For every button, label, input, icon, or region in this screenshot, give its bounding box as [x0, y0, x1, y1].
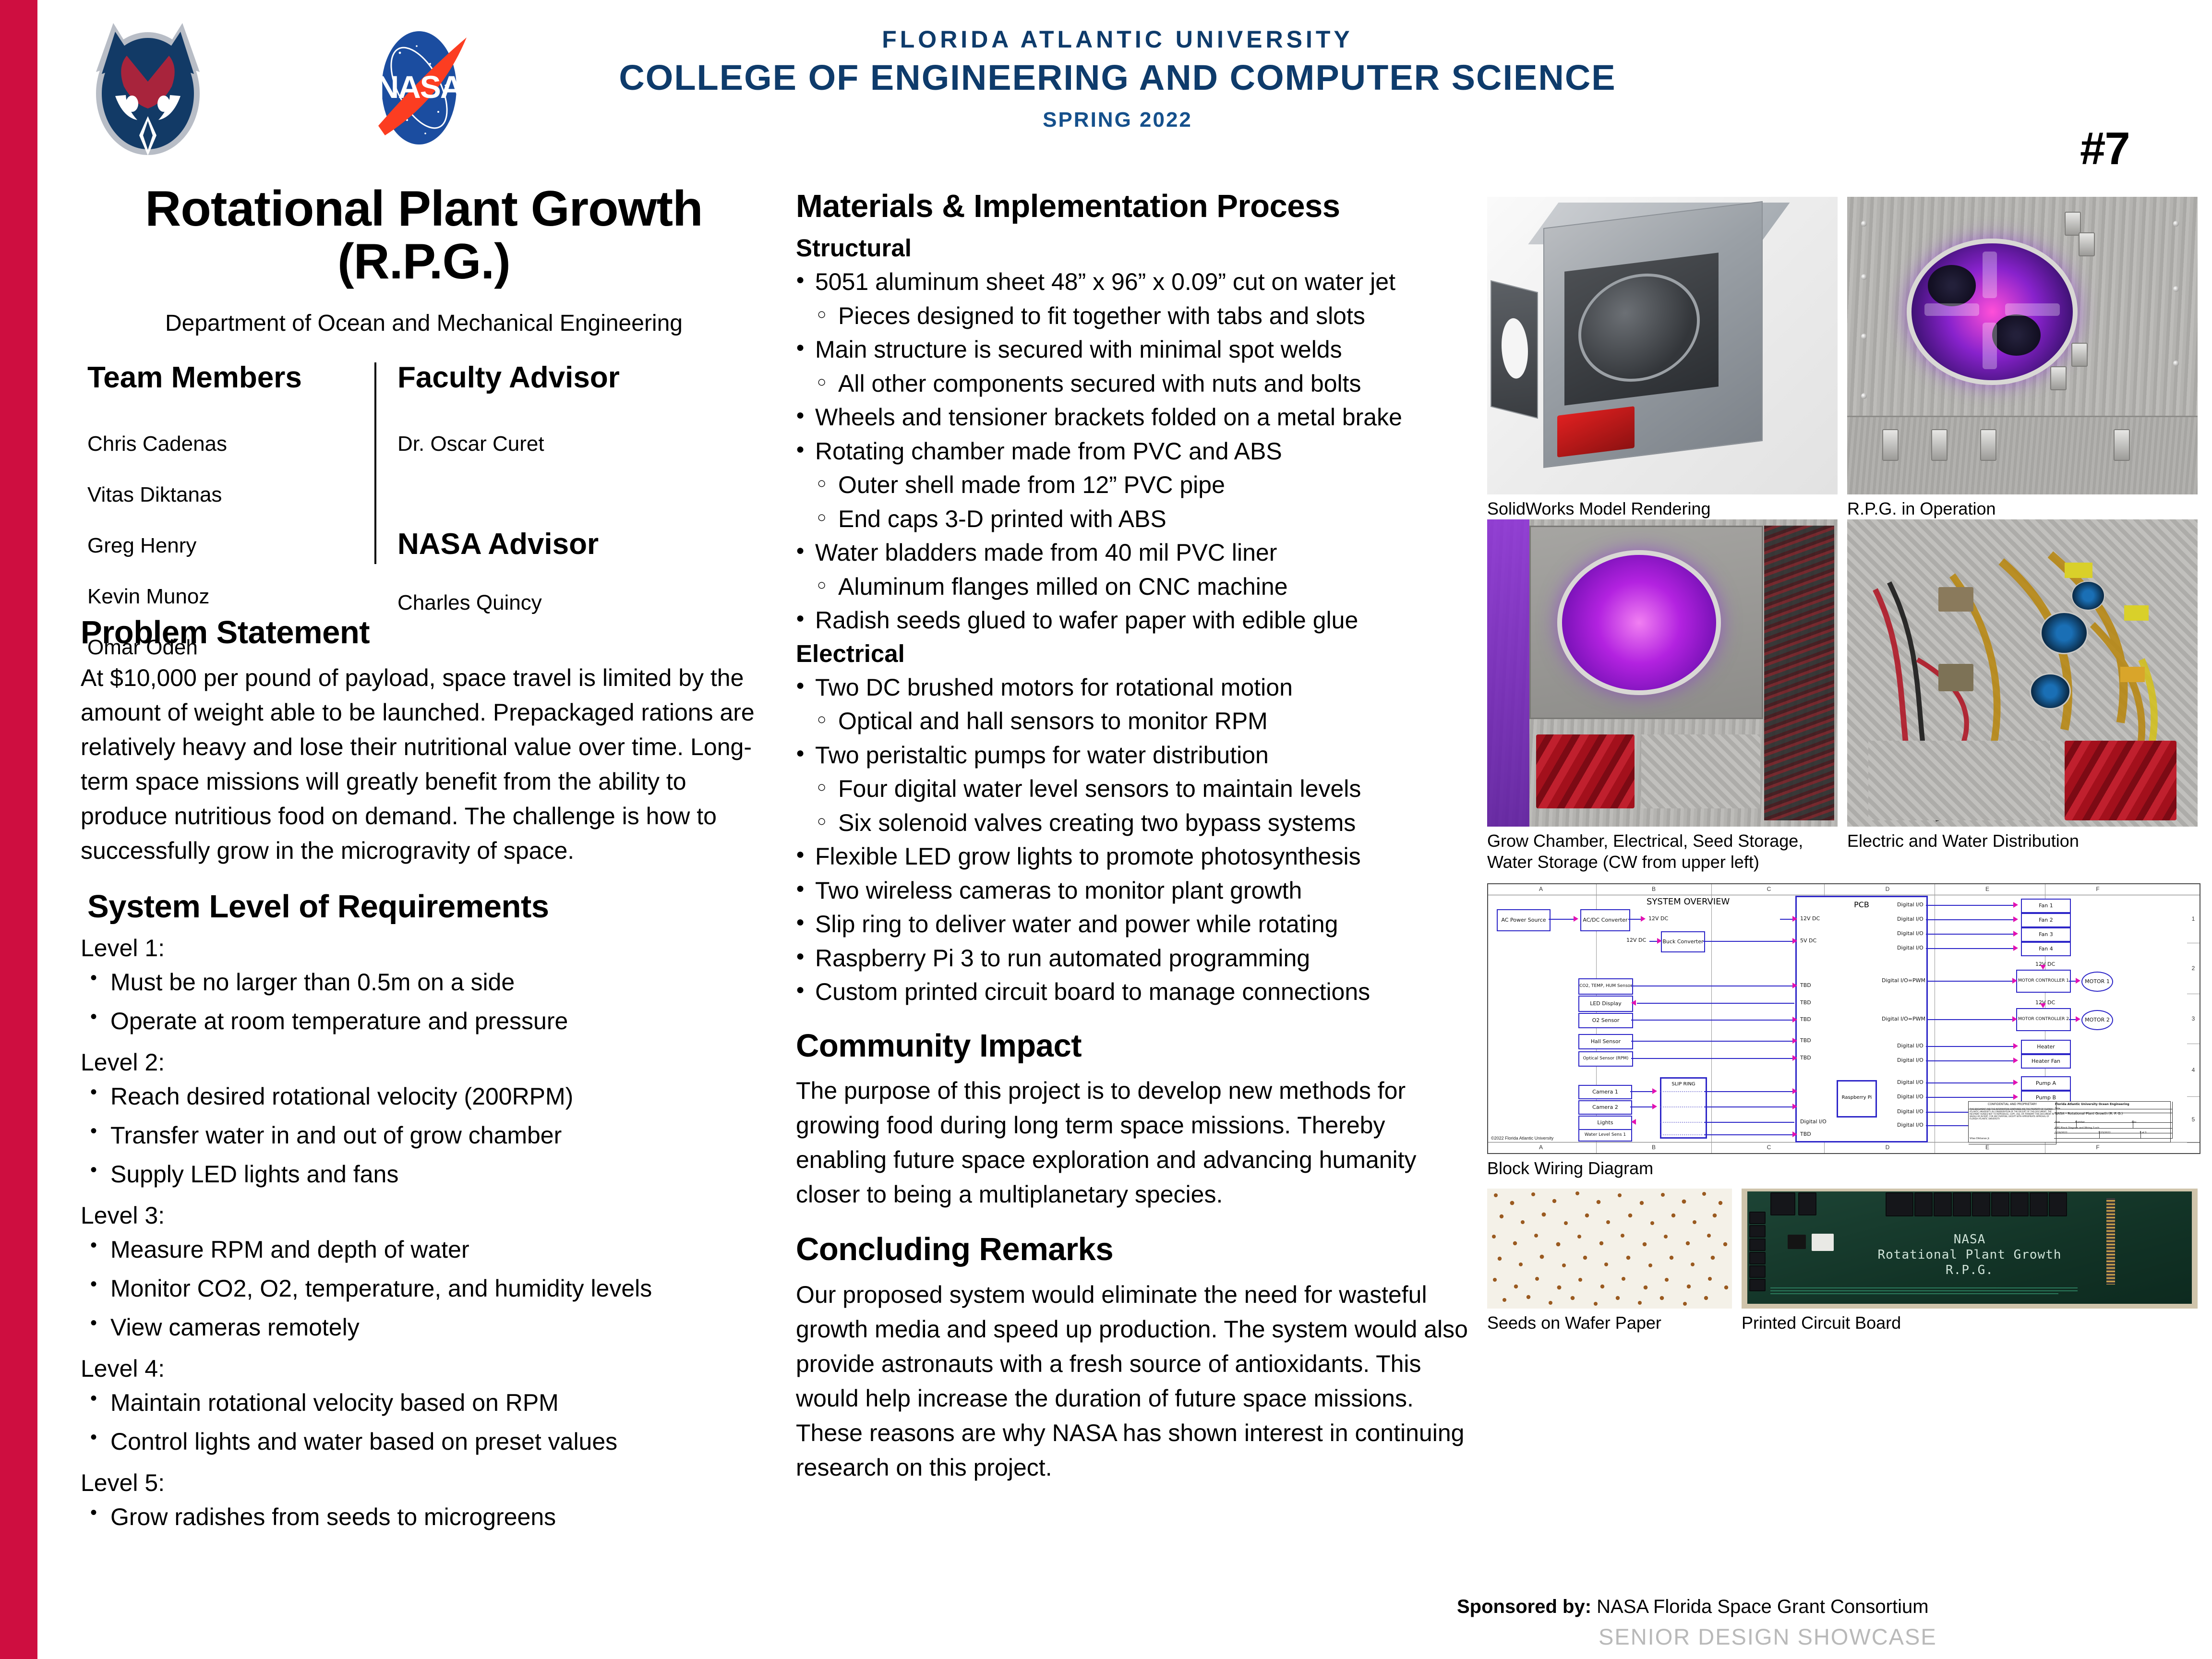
middle-column: Materials & Implementation Process Struc…	[796, 190, 1468, 1485]
diagram-block: Fan 4	[2021, 942, 2071, 956]
diagram-block: AC/DC Converter	[1580, 909, 1630, 931]
material-bullet: Water bladders made from 40 mil PVC line…	[796, 537, 1468, 569]
figure-caption: Grow Chamber, Electrical, Seed Storage, …	[1487, 830, 1838, 873]
concluding-remarks-text: Our proposed system would eliminate the …	[796, 1277, 1468, 1485]
community-impact-text: The purpose of this project is to develo…	[796, 1073, 1468, 1212]
material-bullet: Wheels and tensioner brackets folded on …	[796, 401, 1468, 433]
team-member: Greg Henry	[87, 534, 366, 558]
pcb-silkscreen-line2: Rotational Plant Growth	[1742, 1246, 2198, 1263]
header-text-block: FLORIDA ATLANTIC UNIVERSITY COLLEGE OF E…	[565, 26, 1670, 132]
figure-solidworks: SolidWorks Model Rendering	[1487, 197, 1838, 494]
figure-caption: Seeds on Wafer Paper	[1487, 1312, 1732, 1334]
requirement-item: Transfer water in and out of grow chambe…	[81, 1119, 767, 1152]
nasa-advisor-heading: NASA Advisor	[397, 527, 676, 561]
college-name: COLLEGE OF ENGINEERING AND COMPUTER SCIE…	[565, 56, 1670, 100]
diagram-block: Optical Sensor (RPM)	[1578, 1051, 1633, 1067]
pcb-image: NASA Rotational Plant Growth R.P.G.	[1742, 1189, 2198, 1309]
diagram-block: Heater	[2021, 1040, 2071, 1054]
requirement-group: Maintain rotational velocity based on RP…	[81, 1386, 767, 1458]
material-subbullet: End caps 3-D printed with ABS	[796, 503, 1468, 535]
diagram-block: Lights	[1578, 1116, 1632, 1130]
poster-number: #7	[2080, 122, 2129, 175]
requirements-heading: System Level of Requirements	[81, 890, 767, 924]
materials-heading: Materials & Implementation Process	[796, 190, 1468, 223]
community-impact-section: Community Impact The purpose of this pro…	[796, 1029, 1468, 1212]
page-title-line1: Rotational Plant Growth	[81, 182, 767, 235]
team-member: Kevin Munoz	[87, 585, 366, 609]
material-bullet: 5051 aluminum sheet 48” x 96” x 0.09” cu…	[796, 266, 1468, 298]
figure-row-4: Seeds on Wafer Paper	[1487, 1189, 2198, 1342]
figure-caption: R.P.G. in Operation	[1847, 498, 2198, 519]
electrical-list: Two DC brushed motors for rotational mot…	[796, 672, 1468, 1008]
requirement-group: Measure RPM and depth of waterMonitor CO…	[81, 1233, 767, 1344]
sponsor-line: Sponsored by: NASA Florida Space Grant C…	[1457, 1596, 1929, 1618]
requirement-level-label: Level 1:	[81, 934, 767, 962]
material-bullet: Raspberry Pi 3 to run automated programm…	[796, 942, 1468, 974]
diagram-raspberry-block: Raspberry Pi	[1837, 1080, 1877, 1118]
team-members-heading: Team Members	[87, 361, 366, 395]
requirement-item: Grow radishes from seeds to microgreens	[81, 1501, 767, 1534]
figure-distribution: Electric and Water Distribution	[1847, 519, 2198, 827]
material-subbullet: All other components secured with nuts a…	[796, 368, 1468, 400]
requirement-level-label: Level 2:	[81, 1048, 767, 1076]
diagram-block: Hall Sensor	[1578, 1034, 1633, 1049]
requirement-item: View cameras remotely	[81, 1311, 767, 1344]
material-subbullet: Aluminum flanges milled on CNC machine	[796, 571, 1468, 603]
diagram-block: Fan 2	[2021, 913, 2071, 927]
requirement-item: Supply LED lights and fans	[81, 1158, 767, 1191]
block-wiring-diagram: A B C D E F A B C D E F	[1487, 883, 2200, 1154]
requirement-group: Grow radishes from seeds to microgreens	[81, 1501, 767, 1534]
grow-chamber-image	[1487, 519, 1838, 827]
distribution-image	[1847, 519, 2198, 827]
diagram-title-block: CONFIDENTIAL AND PROPRIETARY Florida Atl…	[1968, 1101, 2171, 1142]
material-bullet: Custom printed circuit board to manage c…	[796, 976, 1468, 1008]
diagram-block: Pump A	[2021, 1076, 2071, 1091]
figure-row-1: SolidWorks Model Rendering	[1487, 197, 2198, 523]
requirement-group: Must be no larger than 0.5m on a sideOpe…	[81, 966, 767, 1038]
team-member: Chris Cadenas	[87, 432, 366, 456]
diagram-block: Fan 3	[2021, 927, 2071, 942]
solidworks-render-image	[1487, 197, 1838, 494]
diagram-column-footer: A B C D E F	[1488, 1142, 2200, 1153]
nasa-advisor-name: Charles Quincy	[397, 591, 676, 615]
figure-seeds: Seeds on Wafer Paper	[1487, 1189, 1732, 1309]
material-bullet: Main structure is secured with minimal s…	[796, 334, 1468, 366]
diagram-title: SYSTEM OVERVIEW	[1647, 897, 1730, 907]
team-member: Vitas Diktanas	[87, 483, 366, 507]
diagram-block: MOTOR 2	[2081, 1010, 2113, 1030]
figure-row-2: Grow Chamber, Electrical, Seed Storage, …	[1487, 519, 2198, 889]
sponsor-name: NASA Florida Space Grant Consortium	[1591, 1596, 1929, 1617]
requirements-section: System Level of Requirements Level 1:Mus…	[81, 890, 767, 1534]
material-bullet: Two wireless cameras to monitor plant gr…	[796, 875, 1468, 907]
requirement-item: Operate at room temperature and pressure	[81, 1005, 767, 1038]
concluding-remarks-heading: Concluding Remarks	[796, 1233, 1468, 1266]
diagram-block: AC Power Source	[1497, 909, 1551, 931]
team-members-column: Team Members Chris Cadenas Vitas Diktana…	[87, 361, 366, 686]
diagram-block: Camera 2	[1578, 1100, 1632, 1115]
left-column: Rotational Plant Growth (R.P.G.) Departm…	[81, 182, 767, 1539]
page-title-line2: (R.P.G.)	[81, 235, 767, 288]
faculty-advisor-heading: Faculty Advisor	[397, 361, 676, 395]
requirement-item: Must be no larger than 0.5m on a side	[81, 966, 767, 999]
pcb-silkscreen-line3: R.P.G.	[1742, 1262, 2198, 1279]
diagram-block: O2 Sensor	[1578, 1013, 1633, 1028]
requirement-item: Maintain rotational velocity based on RP…	[81, 1386, 767, 1419]
faculty-advisor-name: Dr. Oscar Curet	[397, 432, 676, 456]
material-subbullet: Four digital water level sensors to main…	[796, 773, 1468, 805]
figure-caption: Electric and Water Distribution	[1847, 830, 2198, 852]
sponsor-label: Sponsored by:	[1457, 1596, 1591, 1617]
material-bullet: Two DC brushed motors for rotational mot…	[796, 672, 1468, 704]
material-bullet: Rotating chamber made from PVC and ABS	[796, 435, 1468, 468]
poster-canvas: NASA FLORIDA ATLANTIC UNIVERSITY COLLEGE…	[37, 0, 2212, 1659]
figure-row-3: A B C D E F A B C D E F	[1487, 883, 2198, 1190]
requirements-list: Level 1:Must be no larger than 0.5m on a…	[81, 934, 767, 1534]
right-column: SolidWorks Model Rendering	[1487, 197, 2198, 1342]
figure-pcb: NASA Rotational Plant Growth R.P.G. Prin…	[1742, 1189, 2198, 1309]
material-subbullet: Pieces designed to fit together with tab…	[796, 300, 1468, 332]
figure-grow-chamber: Grow Chamber, Electrical, Seed Storage, …	[1487, 519, 1838, 827]
material-bullet: Flexible LED grow lights to promote phot…	[796, 841, 1468, 873]
team-section: Team Members Chris Cadenas Vitas Diktana…	[81, 361, 767, 605]
figure-caption: SolidWorks Model Rendering	[1487, 498, 1838, 519]
requirement-level-label: Level 5:	[81, 1469, 767, 1497]
structural-list: 5051 aluminum sheet 48” x 96” x 0.09” cu…	[796, 266, 1468, 637]
diagram-column-header: A B C D E F	[1488, 884, 2200, 895]
material-subbullet: Outer shell made from 12” PVC pipe	[796, 469, 1468, 501]
concluding-remarks-section: Concluding Remarks Our proposed system w…	[796, 1233, 1468, 1484]
showcase-watermark: SENIOR DESIGN SHOWCASE	[1599, 1623, 1937, 1650]
requirement-level-label: Level 3:	[81, 1202, 767, 1229]
requirement-level-label: Level 4:	[81, 1355, 767, 1382]
requirement-item: Reach desired rotational velocity (200RP…	[81, 1080, 767, 1113]
figure-rpg-operation: R.P.G. in Operation	[1847, 197, 2198, 494]
fau-owl-logo	[85, 14, 210, 158]
material-bullet: Slip ring to deliver water and power whi…	[796, 908, 1468, 940]
requirement-item: Measure RPM and depth of water	[81, 1233, 767, 1266]
figure-block-diagram: A B C D E F A B C D E F	[1487, 883, 2199, 1152]
figure-caption: Block Wiring Diagram	[1487, 1158, 2199, 1179]
diagram-block: Heater Fan	[2021, 1054, 2071, 1069]
team-divider	[374, 362, 376, 564]
diagram-block: LED Display	[1578, 996, 1633, 1012]
requirement-item: Control lights and water based on preset…	[81, 1425, 767, 1458]
diagram-block: Buck Converter	[1661, 931, 1705, 952]
department-label: Department of Ocean and Mechanical Engin…	[81, 310, 767, 337]
seeds-image	[1487, 1189, 1732, 1309]
electrical-subheading: Electrical	[796, 639, 1468, 668]
team-member: Omar Odeh	[87, 636, 366, 660]
svg-text:NASA: NASA	[376, 69, 462, 105]
structural-subheading: Structural	[796, 234, 1468, 262]
diagram-block: MOTOR CONTROLLER 2	[2016, 1008, 2071, 1031]
material-subbullet: Six solenoid valves creating two bypass …	[796, 807, 1468, 839]
diagram-block: MOTOR CONTROLLER 1	[2016, 970, 2071, 993]
nasa-meatball-logo: NASA	[349, 18, 489, 157]
figure-caption: Printed Circuit Board	[1742, 1312, 2198, 1334]
community-impact-heading: Community Impact	[796, 1029, 1468, 1063]
requirement-group: Reach desired rotational velocity (200RP…	[81, 1080, 767, 1191]
term-label: SPRING 2022	[565, 108, 1670, 132]
university-name: FLORIDA ATLANTIC UNIVERSITY	[565, 26, 1670, 53]
brand-accent-stripe	[0, 0, 37, 1659]
diagram-block: Fan 1	[2021, 899, 2071, 913]
pcb-silkscreen-line1: NASA	[1742, 1231, 2198, 1248]
poster-header: NASA FLORIDA ATLANTIC UNIVERSITY COLLEGE…	[37, 0, 2212, 173]
page-title: Rotational Plant Growth (R.P.G.)	[81, 182, 767, 288]
material-subbullet: Optical and hall sensors to monitor RPM	[796, 705, 1468, 737]
problem-statement-text: At $10,000 per pound of payload, space t…	[81, 661, 767, 868]
diagram-block: CO2, TEMP, HUM Sensor	[1578, 978, 1633, 995]
requirement-item: Monitor CO2, O2, temperature, and humidi…	[81, 1272, 767, 1305]
material-bullet: Two peristaltic pumps for water distribu…	[796, 739, 1468, 771]
advisors-column: Faculty Advisor Dr. Oscar Curet NASA Adv…	[397, 361, 676, 615]
rpg-operation-image	[1847, 197, 2198, 494]
diagram-block: Camera 1	[1578, 1085, 1632, 1099]
diagram-block: Water Level Sens 1	[1578, 1129, 1632, 1142]
diagram-block: MOTOR 1	[2081, 972, 2113, 992]
diagram-copyright: ©2022 Florida Atlantic University	[1491, 1136, 1553, 1141]
material-bullet: Radish seeds glued to wafer paper with e…	[796, 604, 1468, 637]
